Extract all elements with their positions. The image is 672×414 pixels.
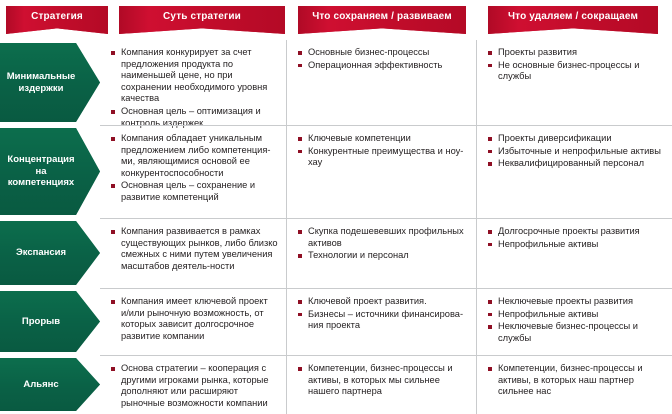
list-item: Компетенции, бизнес-процессы и активы, в…	[298, 363, 468, 398]
list-item: Бизнесы – источники финансирова-ния прое…	[298, 309, 468, 332]
cut-cell: Проекты диверсификации Избыточные и непр…	[477, 125, 672, 218]
table-row: Минимальные издержки Компания конкурируе…	[0, 40, 672, 125]
keep-cell: Основные бизнес-процессы Операционная эф…	[287, 40, 477, 125]
cut-cell: Неключевые проекты развития Непрофильные…	[477, 288, 672, 355]
strategy-cell: Альянс	[0, 355, 100, 414]
list-item: Непрофильные активы	[488, 309, 664, 321]
essence-list: Компания конкурирует за счет предложения…	[111, 47, 278, 129]
list-item: Ключевые компетенции	[298, 133, 468, 145]
list-item: Конкурентные преимущества и ноу-хау	[298, 146, 468, 169]
keep-list: Компетенции, бизнес-процессы и активы, в…	[298, 363, 468, 398]
strategy-label: Концентрация на компетенциях	[4, 154, 78, 190]
cut-cell: Проекты развития Не основные бизнес-проц…	[477, 40, 672, 125]
strategy-cell: Прорыв	[0, 288, 100, 355]
cut-list: Компетенции, бизнес-процессы и активы, в…	[488, 363, 664, 398]
list-item: Компания имеет ключевой проект и/или рын…	[111, 296, 278, 342]
strategy-arrow-shape: Альянс	[0, 358, 100, 411]
list-item: Основная цель – сохранение и развитие ко…	[111, 180, 278, 203]
list-item: Основные бизнес-процессы	[298, 47, 468, 59]
list-item: Операционная эффективность	[298, 60, 468, 72]
cut-list: Проекты диверсификации Избыточные и непр…	[488, 133, 664, 170]
list-item: Технологии и персонал	[298, 250, 468, 262]
keep-cell: Ключевой проект развития. Бизнесы – исто…	[287, 288, 477, 355]
cut-list: Неключевые проекты развития Непрофильные…	[488, 296, 664, 344]
strategy-label: Экспансия	[16, 247, 66, 259]
essence-cell: Компания конкурирует за счет предложения…	[100, 40, 287, 125]
table-body: Минимальные издержки Компания конкурируе…	[0, 40, 672, 414]
essence-cell: Основа стратегии – кооперация с другими …	[100, 355, 287, 414]
table-header-row: Стратегия Суть стратегии Что сохраняем /…	[0, 0, 672, 40]
strategy-label: Минимальные издержки	[4, 71, 78, 95]
table-row: Экспансия Компания развивается в рамках …	[0, 218, 672, 288]
list-item: Неключевые бизнес-процессы и службы	[488, 321, 664, 344]
list-item: Ключевой проект развития.	[298, 296, 468, 308]
keep-list: Основные бизнес-процессы Операционная эф…	[298, 47, 468, 71]
list-item: Компетенции, бизнес-процессы и активы, в…	[488, 363, 664, 398]
keep-list: Ключевые компетенции Конкурентные преиму…	[298, 133, 468, 169]
cut-list: Долгосрочные проекты развития Непрофильн…	[488, 226, 664, 250]
list-item: Компания обладает уникальным предложение…	[111, 133, 278, 179]
list-item: Непрофильные активы	[488, 239, 664, 251]
list-item: Не основные бизнес-процессы и службы	[488, 60, 664, 83]
essence-cell: Компания имеет ключевой проект и/или рын…	[100, 288, 287, 355]
list-item: Проекты диверсификации	[488, 133, 664, 145]
strategy-cell: Минимальные издержки	[0, 40, 100, 125]
strategy-matrix-table: Стратегия Суть стратегии Что сохраняем /…	[0, 0, 672, 414]
column-header-keep-label: Что сохраняем / развиваем	[312, 11, 452, 22]
strategy-arrow-shape: Концентрация на компетенциях	[0, 128, 100, 215]
strategy-label: Альянс	[23, 379, 58, 391]
list-item: Компания конкурирует за счет предложения…	[111, 47, 278, 105]
strategy-cell: Экспансия	[0, 218, 100, 288]
strategy-arrow-shape: Экспансия	[0, 221, 100, 285]
essence-list: Компания имеет ключевой проект и/или рын…	[111, 296, 278, 342]
strategy-label: Прорыв	[22, 316, 60, 328]
column-header-keep: Что сохраняем / развиваем	[298, 6, 466, 34]
essence-cell: Компания обладает уникальным предложение…	[100, 125, 287, 218]
table-row: Альянс Основа стратегии – кооперация с д…	[0, 355, 672, 414]
strategy-arrow-shape: Минимальные издержки	[0, 43, 100, 122]
list-item: Избыточные и непрофильные активы	[488, 146, 664, 158]
column-header-cut-label: Что удаляем / сокращаем	[508, 11, 638, 22]
keep-list: Скупка подешевевших профильных активов Т…	[298, 226, 468, 262]
list-item: Неключевые проекты развития	[488, 296, 664, 308]
list-item: Скупка подешевевших профильных активов	[298, 226, 468, 249]
list-item: Неквалифицированный персонал	[488, 158, 664, 170]
column-header-strategy: Стратегия	[6, 6, 108, 34]
essence-list: Компания обладает уникальным предложение…	[111, 133, 278, 204]
strategy-arrow-shape: Прорыв	[0, 291, 100, 352]
column-header-essence: Суть стратегии	[119, 6, 285, 34]
cut-cell: Компетенции, бизнес-процессы и активы, в…	[477, 355, 672, 414]
column-header-cut: Что удаляем / сокращаем	[488, 6, 658, 34]
essence-list: Компания развивается в рамках существующ…	[111, 226, 278, 272]
strategy-cell: Концентрация на компетенциях	[0, 125, 100, 218]
table-row: Прорыв Компания имеет ключевой проект и/…	[0, 288, 672, 355]
list-item: Долгосрочные проекты развития	[488, 226, 664, 238]
keep-cell: Компетенции, бизнес-процессы и активы, в…	[287, 355, 477, 414]
column-header-strategy-label: Стратегия	[31, 11, 83, 22]
list-item: Компания развивается в рамках существующ…	[111, 226, 278, 272]
column-header-essence-label: Суть стратегии	[163, 11, 241, 22]
keep-cell: Ключевые компетенции Конкурентные преиму…	[287, 125, 477, 218]
cut-list: Проекты развития Не основные бизнес-проц…	[488, 47, 664, 83]
table-row: Концентрация на компетенциях Компания об…	[0, 125, 672, 218]
list-item: Основа стратегии – кооперация с другими …	[111, 363, 278, 409]
essence-cell: Компания развивается в рамках существующ…	[100, 218, 287, 288]
keep-cell: Скупка подешевевших профильных активов Т…	[287, 218, 477, 288]
keep-list: Ключевой проект развития. Бизнесы – исто…	[298, 296, 468, 332]
essence-list: Основа стратегии – кооперация с другими …	[111, 363, 278, 409]
cut-cell: Долгосрочные проекты развития Непрофильн…	[477, 218, 672, 288]
list-item: Проекты развития	[488, 47, 664, 59]
